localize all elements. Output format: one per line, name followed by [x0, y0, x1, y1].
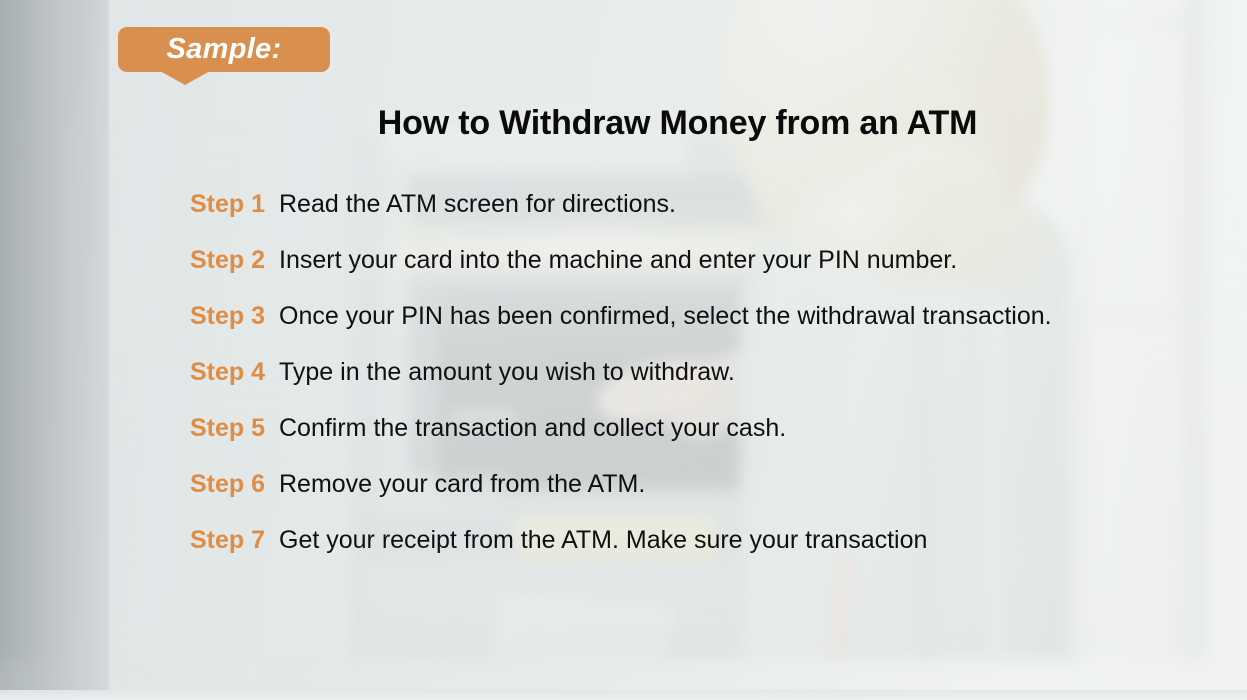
steps-list: Step 1 Read the ATM screen for direction…	[0, 192, 1247, 584]
step-text: Remove your card from the ATM.	[279, 472, 1247, 497]
step-text: Once your PIN has been confirmed, select…	[279, 304, 1247, 329]
step-text: Get your receipt from the ATM. Make sure…	[279, 528, 1247, 553]
sample-badge-label: Sample:	[167, 35, 282, 64]
list-item: Step 5 Confirm the transaction and colle…	[0, 416, 1247, 472]
step-text: Insert your card into the machine and en…	[279, 248, 1247, 273]
list-item: Step 2 Insert your card into the machine…	[0, 248, 1247, 304]
step-text: Confirm the transaction and collect your…	[279, 416, 1247, 441]
list-item: Step 7 Get your receipt from the ATM. Ma…	[0, 528, 1247, 584]
list-item: Step 3 Once your PIN has been confirmed,…	[0, 304, 1247, 360]
step-label: Step 5	[60, 416, 265, 441]
step-label: Step 3	[60, 304, 265, 329]
list-item: Step 4 Type in the amount you wish to wi…	[0, 360, 1247, 416]
step-label: Step 4	[60, 360, 265, 385]
sample-badge-tail-icon	[160, 71, 210, 85]
slide-canvas: Sample: How to Withdraw Money from an AT…	[0, 0, 1247, 700]
step-label: Step 6	[60, 472, 265, 497]
step-label: Step 2	[60, 248, 265, 273]
step-label: Step 7	[60, 528, 265, 553]
list-item: Step 6 Remove your card from the ATM.	[0, 472, 1247, 528]
page-title: How to Withdraw Money from an ATM	[108, 104, 1247, 143]
slide-content: Sample: How to Withdraw Money from an AT…	[0, 0, 1247, 700]
list-item: Step 1 Read the ATM screen for direction…	[0, 192, 1247, 248]
sample-badge: Sample:	[118, 27, 330, 72]
step-label: Step 1	[60, 192, 265, 217]
step-text: Read the ATM screen for directions.	[279, 192, 1247, 217]
step-text: Type in the amount you wish to withdraw.	[279, 360, 1247, 385]
